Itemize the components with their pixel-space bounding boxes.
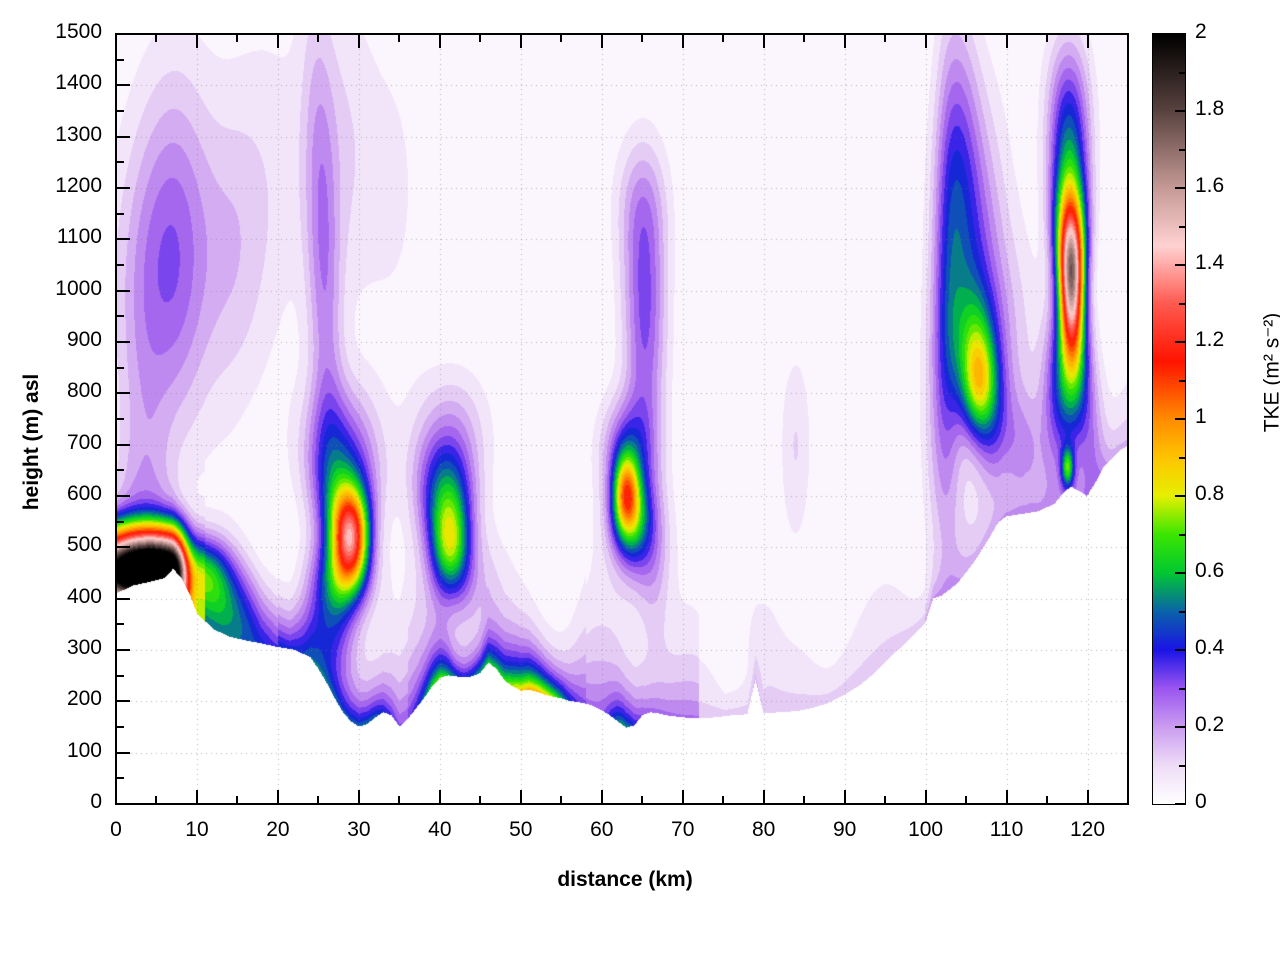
x-tick-label: 120	[1048, 818, 1128, 842]
y-tick-label: 400	[0, 585, 102, 609]
x-tick-major	[115, 790, 117, 804]
colorbar-tick-major	[1175, 187, 1185, 189]
colorbar-tick-label: 1	[1195, 405, 1255, 429]
x-tick-minor-top	[1046, 34, 1048, 42]
y-tick-major	[116, 290, 130, 292]
x-tick-label: 70	[643, 818, 723, 842]
y-tick-major	[116, 136, 130, 138]
colorbar-tick-minor	[1179, 149, 1185, 151]
colorbar-tick-minor	[1179, 380, 1185, 382]
colorbar-tick-label: 0	[1195, 790, 1255, 814]
colorbar-tick-major	[1175, 264, 1185, 266]
colorbar-tick-major	[1175, 649, 1185, 651]
colorbar-tick-label: 1.8	[1195, 97, 1255, 121]
x-tick-major	[1087, 790, 1089, 804]
x-tick-minor	[155, 796, 157, 804]
x-tick-major-top	[1006, 34, 1008, 48]
y-tick-minor	[116, 623, 124, 625]
colorbar-tick-major	[1175, 803, 1185, 805]
y-tick-major	[116, 700, 130, 702]
x-tick-label: 80	[724, 818, 804, 842]
x-tick-minor	[641, 796, 643, 804]
y-tick-major	[116, 546, 130, 548]
y-tick-major	[116, 187, 130, 189]
x-tick-minor	[1046, 796, 1048, 804]
x-tick-label: 100	[886, 818, 966, 842]
y-tick-minor	[116, 59, 124, 61]
y-tick-label: 1500	[0, 20, 102, 44]
colorbar-tick-major	[1175, 495, 1185, 497]
y-tick-minor	[116, 726, 124, 728]
y-tick-major	[116, 33, 130, 35]
y-tick-minor	[116, 777, 124, 779]
colorbar-tick-minor	[1179, 303, 1185, 305]
x-tick-major	[196, 790, 198, 804]
colorbar-tick-minor	[1179, 72, 1185, 74]
colorbar-tick-label: 0.6	[1195, 559, 1255, 583]
x-tick-minor-top	[884, 34, 886, 42]
x-tick-major	[1006, 790, 1008, 804]
x-tick-major-top	[358, 34, 360, 48]
colorbar-tick-minor	[1179, 688, 1185, 690]
colorbar-tick-minor	[1179, 611, 1185, 613]
colorbar-tick-label: 0.4	[1195, 636, 1255, 660]
colorbar-tick-label: 1.2	[1195, 328, 1255, 352]
y-tick-major	[116, 649, 130, 651]
y-tick-label: 1300	[0, 123, 102, 147]
x-tick-major-top	[196, 34, 198, 48]
y-tick-minor	[116, 675, 124, 677]
colorbar-tick-minor	[1179, 226, 1185, 228]
x-tick-minor	[479, 796, 481, 804]
colorbar-tick-major	[1175, 341, 1185, 343]
y-tick-minor	[116, 315, 124, 317]
tke-heatmap-canvas	[116, 34, 1128, 804]
x-tick-minor	[317, 796, 319, 804]
x-tick-label: 10	[157, 818, 237, 842]
colorbar-tick-minor	[1179, 534, 1185, 536]
x-tick-minor-top	[965, 34, 967, 42]
colorbar-tick-label: 0.2	[1195, 713, 1255, 737]
y-tick-label: 300	[0, 636, 102, 660]
colorbar-tick-label: 1.4	[1195, 251, 1255, 275]
colorbar-tick-major	[1175, 418, 1185, 420]
x-tick-major-top	[520, 34, 522, 48]
y-tick-minor	[116, 110, 124, 112]
y-tick-major	[116, 392, 130, 394]
y-tick-minor	[116, 418, 124, 420]
x-tick-major	[844, 790, 846, 804]
x-tick-major	[358, 790, 360, 804]
x-tick-minor	[398, 796, 400, 804]
colorbar-tick-major	[1175, 726, 1185, 728]
x-tick-major	[520, 790, 522, 804]
x-tick-label: 20	[238, 818, 318, 842]
x-tick-minor-top	[398, 34, 400, 42]
x-tick-minor-top	[155, 34, 157, 42]
y-tick-major	[116, 341, 130, 343]
x-tick-minor	[560, 796, 562, 804]
x-tick-label: 50	[481, 818, 561, 842]
y-tick-minor	[116, 367, 124, 369]
x-tick-label: 40	[400, 818, 480, 842]
y-tick-major	[116, 752, 130, 754]
x-tick-major	[925, 790, 927, 804]
x-tick-minor-top	[722, 34, 724, 42]
x-tick-minor-top	[560, 34, 562, 42]
x-tick-major-top	[439, 34, 441, 48]
x-tick-major-top	[844, 34, 846, 48]
y-tick-minor	[116, 572, 124, 574]
y-tick-label: 1100	[0, 225, 102, 249]
colorbar-tick-major	[1175, 33, 1185, 35]
x-tick-minor-top	[236, 34, 238, 42]
y-tick-major	[116, 238, 130, 240]
x-tick-major-top	[763, 34, 765, 48]
x-tick-major-top	[115, 34, 117, 48]
x-tick-major-top	[277, 34, 279, 48]
y-tick-label: 600	[0, 482, 102, 506]
x-tick-major-top	[1087, 34, 1089, 48]
y-tick-major	[116, 803, 130, 805]
y-tick-minor	[116, 161, 124, 163]
x-tick-major	[682, 790, 684, 804]
y-tick-label: 0	[0, 790, 102, 814]
x-tick-major-top	[601, 34, 603, 48]
y-tick-label: 500	[0, 533, 102, 557]
y-tick-major	[116, 495, 130, 497]
y-tick-label: 1400	[0, 71, 102, 95]
y-tick-label: 1200	[0, 174, 102, 198]
x-tick-major-top	[682, 34, 684, 48]
colorbar-label: TKE (m² s⁻²)	[1260, 263, 1280, 483]
x-tick-label: 60	[562, 818, 642, 842]
x-tick-major	[763, 790, 765, 804]
y-tick-label: 900	[0, 328, 102, 352]
colorbar-tick-label: 0.8	[1195, 482, 1255, 506]
x-tick-major	[277, 790, 279, 804]
y-tick-label: 100	[0, 739, 102, 763]
x-tick-label: 30	[319, 818, 399, 842]
x-axis-label: distance (km)	[415, 868, 835, 892]
chart-figure: height (m) asl distance (km) TKE (m² s⁻²…	[0, 0, 1280, 960]
colorbar-tick-minor	[1179, 457, 1185, 459]
x-tick-minor	[722, 796, 724, 804]
x-tick-minor	[236, 796, 238, 804]
y-tick-minor	[116, 213, 124, 215]
colorbar-tick-label: 2	[1195, 20, 1255, 44]
x-tick-label: 90	[805, 818, 885, 842]
x-tick-minor	[965, 796, 967, 804]
x-tick-label: 0	[76, 818, 156, 842]
y-tick-minor	[116, 521, 124, 523]
x-tick-major	[439, 790, 441, 804]
x-tick-label: 110	[967, 818, 1047, 842]
x-tick-minor-top	[479, 34, 481, 42]
y-tick-minor	[116, 264, 124, 266]
x-tick-major	[601, 790, 603, 804]
y-tick-minor	[116, 469, 124, 471]
y-tick-label: 1000	[0, 277, 102, 301]
y-tick-label: 200	[0, 687, 102, 711]
y-tick-label: 800	[0, 379, 102, 403]
colorbar-tick-label: 1.6	[1195, 174, 1255, 198]
y-tick-major	[116, 598, 130, 600]
x-tick-major-top	[925, 34, 927, 48]
x-tick-minor	[884, 796, 886, 804]
y-tick-major	[116, 84, 130, 86]
colorbar-tick-minor	[1179, 765, 1185, 767]
colorbar-tick-major	[1175, 572, 1185, 574]
x-tick-minor-top	[641, 34, 643, 42]
colorbar-tick-major	[1175, 110, 1185, 112]
y-tick-major	[116, 444, 130, 446]
y-tick-label: 700	[0, 431, 102, 455]
x-tick-minor	[803, 796, 805, 804]
x-tick-minor-top	[317, 34, 319, 42]
x-tick-minor-top	[803, 34, 805, 42]
